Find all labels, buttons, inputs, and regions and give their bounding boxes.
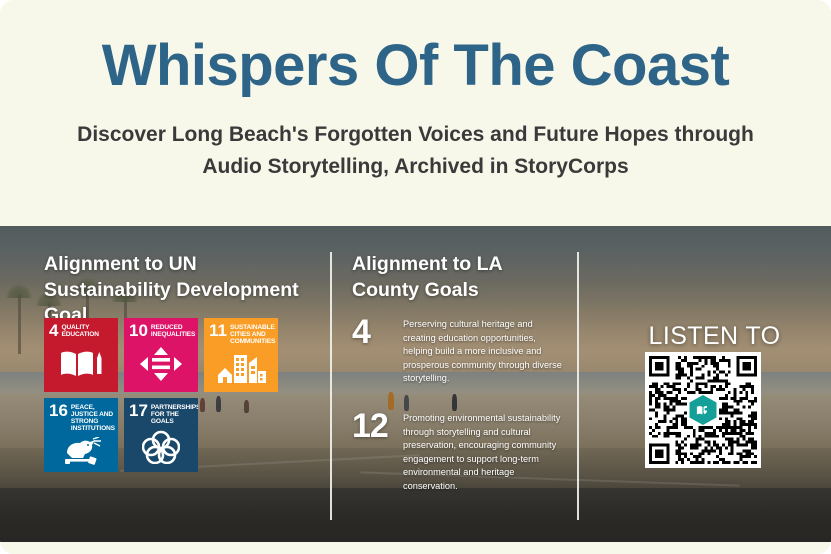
sdg-badge-4[interactable]: 4 Quality Education [44,318,118,392]
sdg-badge-10[interactable]: 10 Reduced Inequalities [124,318,198,392]
county-goal-item: 4 Perserving cultural heritage and creat… [352,318,567,386]
sdg-label: Reduced Inequalities [151,323,195,338]
page-subtitle: Discover Long Beach's Forgotten Voices a… [46,119,786,183]
listen-to-heading: LISTEN TO [598,322,831,351]
qr-code-canvas [649,356,757,464]
sdg-icon-grid: 4 Quality Education 10 [44,318,294,472]
interlocking-circles-icon [129,425,193,472]
sdg-number: 11 [209,323,227,339]
qr-code[interactable] [645,352,761,468]
sdg-label: Partnerships for the Goals [151,403,198,425]
photo-content-overlay: Alignment to UN Sustainability Developme… [0,226,831,542]
book-pin-icon [696,403,711,418]
county-goal-text: Promoting environmental sustainability t… [403,412,567,494]
sdg-number: 10 [129,323,148,339]
city-buildings-icon [209,345,273,392]
column-divider-2 [577,252,579,520]
sdg-badge-header: 10 Reduced Inequalities [129,323,193,339]
sdg-badge-17[interactable]: 17 Partnerships for the Goals [124,398,198,472]
poster-header: Whispers Of The Coast Discover Long Beac… [0,0,831,226]
sdg-label: Sustainable Cities and Communities [230,323,275,345]
sdg-badge-header: 16 Peace, Justice and Strong Institution… [49,403,113,432]
county-goal-item: 12 Promoting environmental sustainabilit… [352,412,567,494]
sdg-number: 17 [129,403,148,419]
page-title: Whispers Of The Coast [102,36,730,97]
dove-gavel-icon [49,432,113,472]
sdg-badge-16[interactable]: 16 Peace, Justice and Strong Institution… [44,398,118,472]
sdg-number: 4 [49,323,58,339]
county-goal-number: 12 [352,412,394,441]
county-section-title: Alignment to LA County Goals [352,252,567,303]
sdg-label: Quality Education [61,323,113,338]
background-photo: Alignment to UN Sustainability Developme… [0,226,831,542]
sdg-number: 16 [49,403,68,419]
open-book-pencil-icon [49,339,113,392]
county-goal-text: Perserving cultural heritage and creatin… [403,318,567,386]
column-divider-1 [330,252,332,520]
sdg-label: Peace, Justice and Strong Institutions [71,403,115,432]
equal-arrows-icon [129,339,193,392]
poster: Whispers Of The Coast Discover Long Beac… [0,0,831,554]
sdg-badge-11[interactable]: 11 Sustainable Cities and Communities [204,318,278,392]
sdg-badge-header: 4 Quality Education [49,323,113,339]
sdg-badge-header: 11 Sustainable Cities and Communities [209,323,273,345]
bottom-border-strip [0,542,831,554]
sdg-badge-header: 17 Partnerships for the Goals [129,403,193,425]
county-goal-number: 4 [352,318,394,347]
